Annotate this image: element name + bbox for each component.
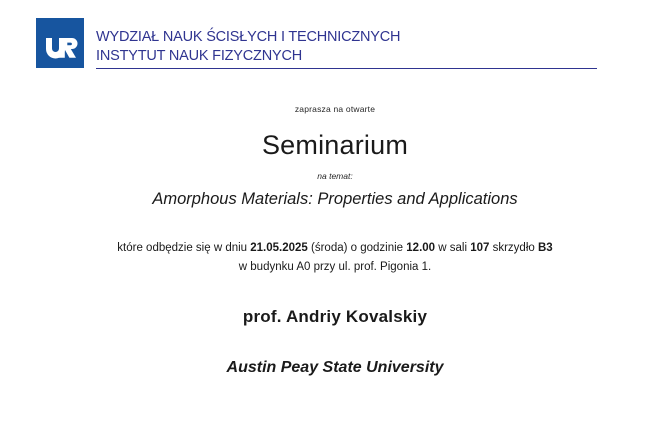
speaker-name: prof. Andriy Kovalskiy xyxy=(0,277,670,327)
faculty-name: WYDZIAŁ NAUK ŚCISŁYCH I TECHNICZNYCH xyxy=(96,28,636,47)
event-weekday: (środa) o godzinie xyxy=(308,242,406,254)
letterhead-header: WYDZIAŁ NAUK ŚCISŁYCH I TECHNICZNYCH INS… xyxy=(36,18,636,74)
seminar-subject-title: Amorphous Materials: Properties and Appl… xyxy=(0,181,670,209)
room-number: 107 xyxy=(470,242,489,254)
page-title: Seminarium xyxy=(0,114,670,161)
details-prefix: które odbędzie się w dniu xyxy=(117,242,250,254)
event-details-line-1: które odbędzie się w dniu 21.05.2025 (śr… xyxy=(0,209,670,258)
event-date: 21.05.2025 xyxy=(250,242,308,254)
subject-label: na temat: xyxy=(0,161,670,181)
seminar-announcement-page: WYDZIAŁ NAUK ŚCISŁYCH I TECHNICZNYCH INS… xyxy=(0,0,670,440)
room-prefix: w sali xyxy=(435,242,470,254)
wing-code: B3 xyxy=(538,242,553,254)
wing-prefix: skrzydło xyxy=(489,242,538,254)
speaker-affiliation: Austin Peay State University xyxy=(0,327,670,377)
institute-name: INSTYTUT NAUK FIZYCZNYCH xyxy=(96,47,636,66)
announcement-body: zaprasza na otwarte Seminarium na temat:… xyxy=(0,96,670,377)
institution-name-block: WYDZIAŁ NAUK ŚCISŁYCH I TECHNICZNYCH INS… xyxy=(96,28,636,66)
header-divider-rule xyxy=(96,68,597,69)
event-time: 12.00 xyxy=(406,242,435,254)
event-details-line-2: w budynku A0 przy ul. prof. Pigonia 1. xyxy=(0,258,670,277)
ur-monogram-logo-icon xyxy=(36,18,84,68)
invitation-text: zaprasza na otwarte xyxy=(0,96,670,114)
